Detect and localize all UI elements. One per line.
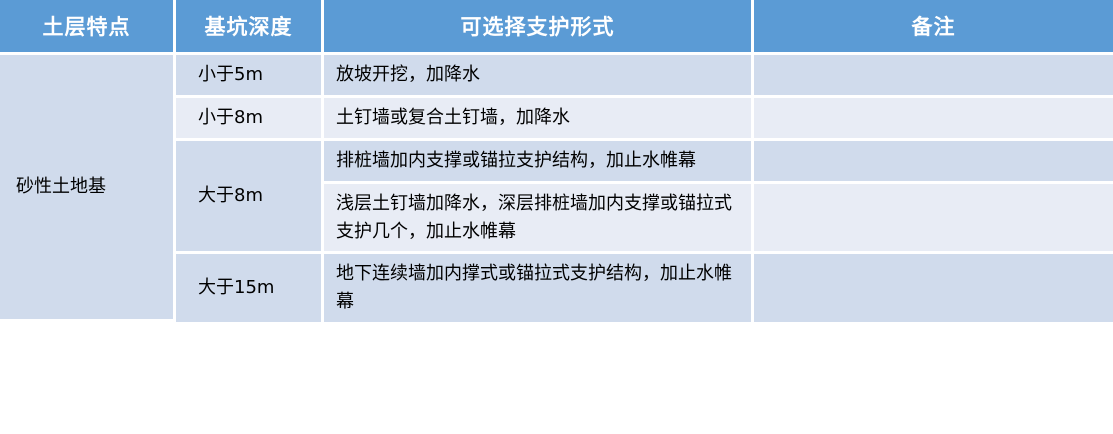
column-header-remark: 备注 — [754, 0, 1113, 55]
header-row: 土层特点 基坑深度 可选择支护形式 备注 — [0, 0, 1113, 55]
cell-support-form-1: 放坡开挖，加降水 — [324, 55, 754, 98]
support-form-table-container: 土层特点 基坑深度 可选择支护形式 备注 砂性土地基 小于5m 放坡开挖，加降水… — [0, 0, 1113, 434]
table-row: 砂性土地基 小于5m 放坡开挖，加降水 — [0, 55, 1113, 98]
cell-remark-5 — [754, 254, 1113, 322]
cell-depth-5: 大于15m — [176, 254, 324, 322]
support-form-table: 土层特点 基坑深度 可选择支护形式 备注 砂性土地基 小于5m 放坡开挖，加降水… — [0, 0, 1113, 322]
cell-support-form-3: 排桩墙加内支撑或锚拉支护结构，加止水帷幕 — [324, 141, 754, 184]
table-header: 土层特点 基坑深度 可选择支护形式 备注 — [0, 0, 1113, 55]
cell-depth-3: 大于8m — [176, 141, 324, 255]
cell-support-form-4: 浅层土钉墙加降水，深层排桩墙加内支撑或锚拉式支护几个，加止水帷幕 — [324, 184, 754, 255]
column-header-support-form: 可选择支护形式 — [324, 0, 754, 55]
cell-remark-2 — [754, 98, 1113, 141]
cell-depth-1: 小于5m — [176, 55, 324, 98]
column-header-soil: 土层特点 — [0, 0, 176, 55]
cell-remark-3 — [754, 141, 1113, 184]
cell-support-form-5: 地下连续墙加内撑式或锚拉式支护结构，加止水帷幕 — [324, 254, 754, 322]
column-header-depth: 基坑深度 — [176, 0, 324, 55]
cell-remark-1 — [754, 55, 1113, 98]
cell-remark-4 — [754, 184, 1113, 255]
cell-soil-type: 砂性土地基 — [0, 55, 176, 322]
cell-depth-2: 小于8m — [176, 98, 324, 141]
table-body: 砂性土地基 小于5m 放坡开挖，加降水 小于8m 土钉墙或复合土钉墙，加降水 大… — [0, 55, 1113, 322]
cell-support-form-2: 土钉墙或复合土钉墙，加降水 — [324, 98, 754, 141]
